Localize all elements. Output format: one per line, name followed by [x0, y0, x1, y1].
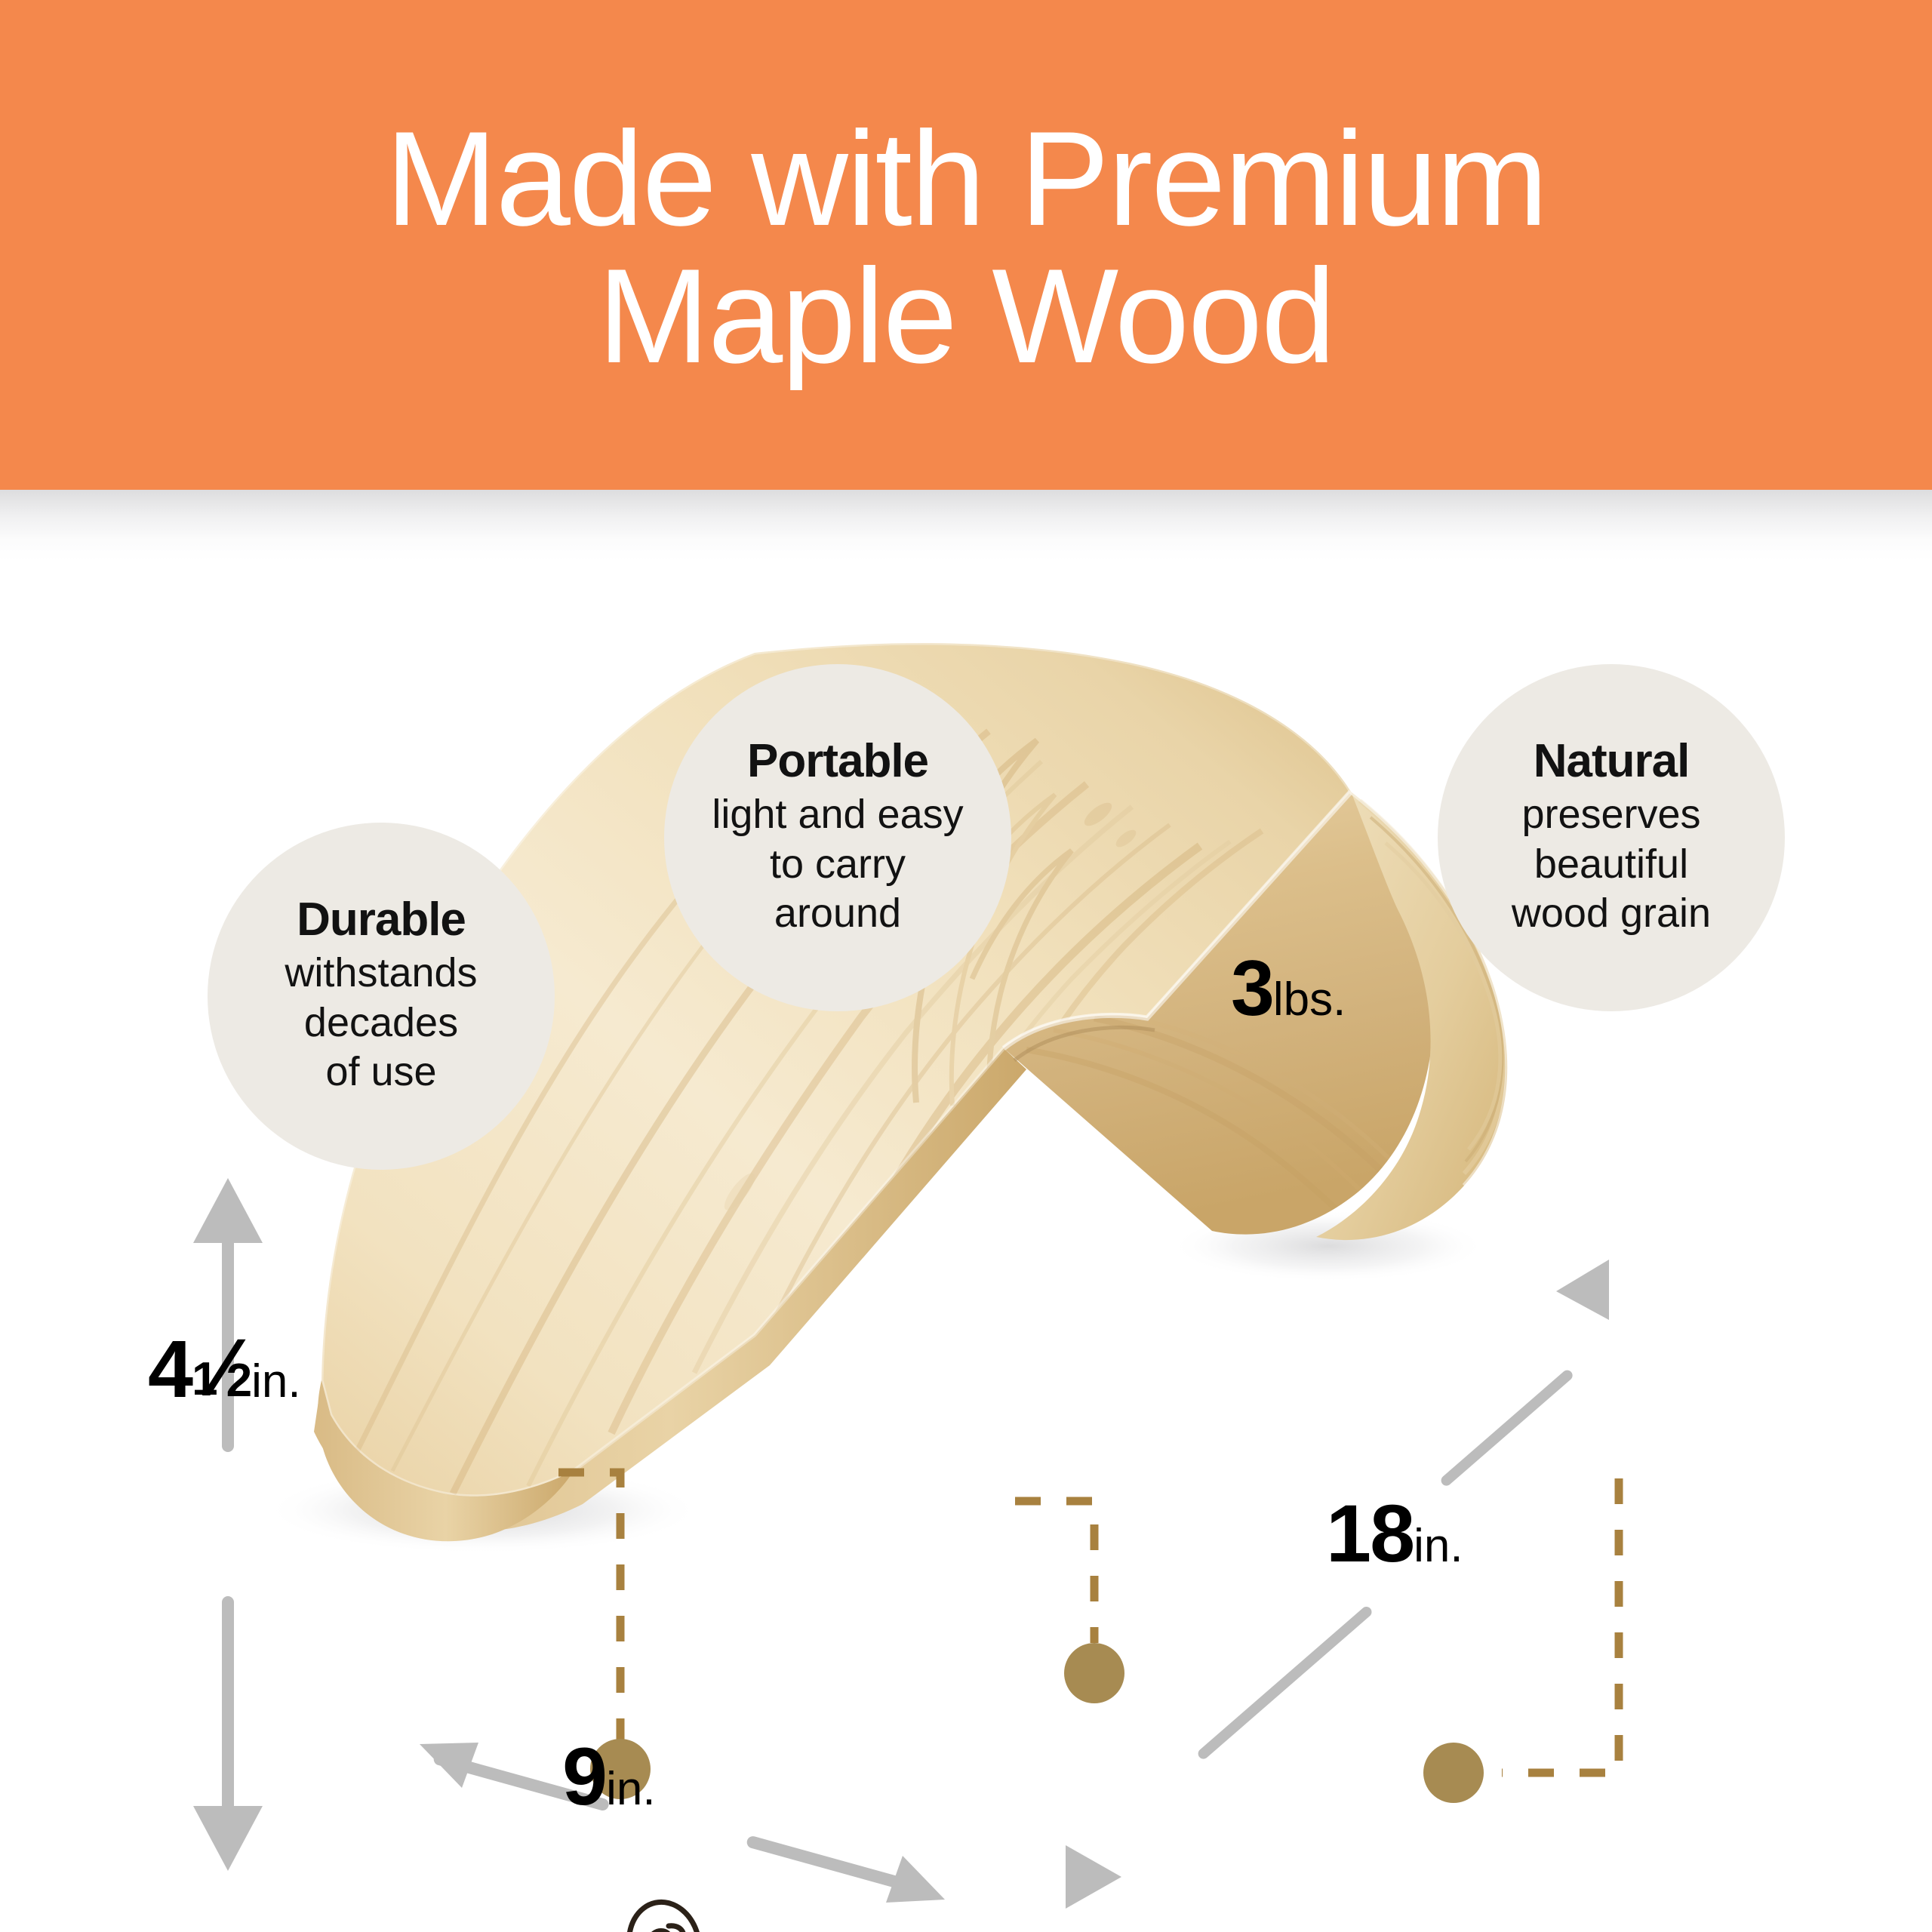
callout-body-durable-line-1: withstands: [285, 949, 477, 998]
measurement-label-width: 9in.: [562, 1736, 656, 1817]
callout-body-durable-line-2: decades: [304, 998, 458, 1048]
connector-dot-portable: [1064, 1643, 1124, 1703]
callout-body-natural-line-2: beautiful: [1534, 840, 1688, 890]
measurement-length-unit: in.: [1414, 1520, 1463, 1572]
callout-bubble-portable[interactable]: Portable light and easy to carry around: [664, 664, 1011, 1011]
measurement-height-denominator: 2: [226, 1355, 251, 1407]
callout-body-portable-line-2: to carry: [770, 840, 906, 890]
callout-title-durable: Durable: [297, 895, 466, 946]
header-title-line-1: Made with Premium: [386, 110, 1547, 248]
callout-body-portable-line-3: around: [774, 889, 901, 939]
callout-body-natural-line-3: wood grain: [1512, 889, 1711, 939]
callout-bubble-durable[interactable]: Durable withstands decades of use: [208, 823, 555, 1170]
header-banner: Made with Premium Maple Wood: [0, 0, 1932, 490]
callout-title-portable: Portable: [747, 737, 928, 787]
measurement-height-whole: 4: [148, 1323, 192, 1414]
measurement-weight-value: 3: [1231, 945, 1273, 1032]
connector-portable: [1015, 1501, 1124, 1703]
hsp-brand-logo: HSP: [604, 1890, 747, 1932]
measurement-height-numerator: 1: [192, 1353, 217, 1405]
header-title-line-2: Maple Wood: [598, 248, 1334, 385]
measurement-label-length: 18in.: [1326, 1493, 1463, 1574]
dimension-arrow-width: [420, 1743, 945, 1903]
measurement-height-fraction: 1⁄2: [192, 1327, 251, 1408]
measurement-label-height: 41⁄2in.: [148, 1328, 301, 1410]
infographic-root: Made with Premium Maple Wood: [0, 0, 1932, 1932]
connector-dot-natural: [1423, 1743, 1484, 1803]
dimension-arrow-height: [193, 1178, 263, 1871]
measurement-height-unit: in.: [251, 1355, 300, 1407]
measurement-width-unit: in.: [606, 1763, 655, 1815]
measurement-width-value: 9: [562, 1730, 606, 1822]
dimension-arrow-length: [1066, 1260, 1609, 1909]
callout-bubble-natural[interactable]: Natural preserves beautiful wood grain: [1438, 664, 1785, 1011]
callout-title-natural: Natural: [1534, 737, 1690, 787]
hsp-logo-mark: HSP: [604, 1890, 747, 1932]
measurement-length-value: 18: [1326, 1487, 1414, 1579]
callout-body-natural-line-1: preserves: [1521, 790, 1700, 840]
callout-body-portable-line-1: light and easy: [712, 790, 963, 840]
fraction-slash-icon: ⁄: [217, 1321, 226, 1413]
callout-body-durable-line-3: of use: [325, 1048, 436, 1097]
measurement-label-weight: 3lbs.: [1231, 949, 1346, 1028]
measurement-weight-unit: lbs.: [1273, 974, 1346, 1026]
